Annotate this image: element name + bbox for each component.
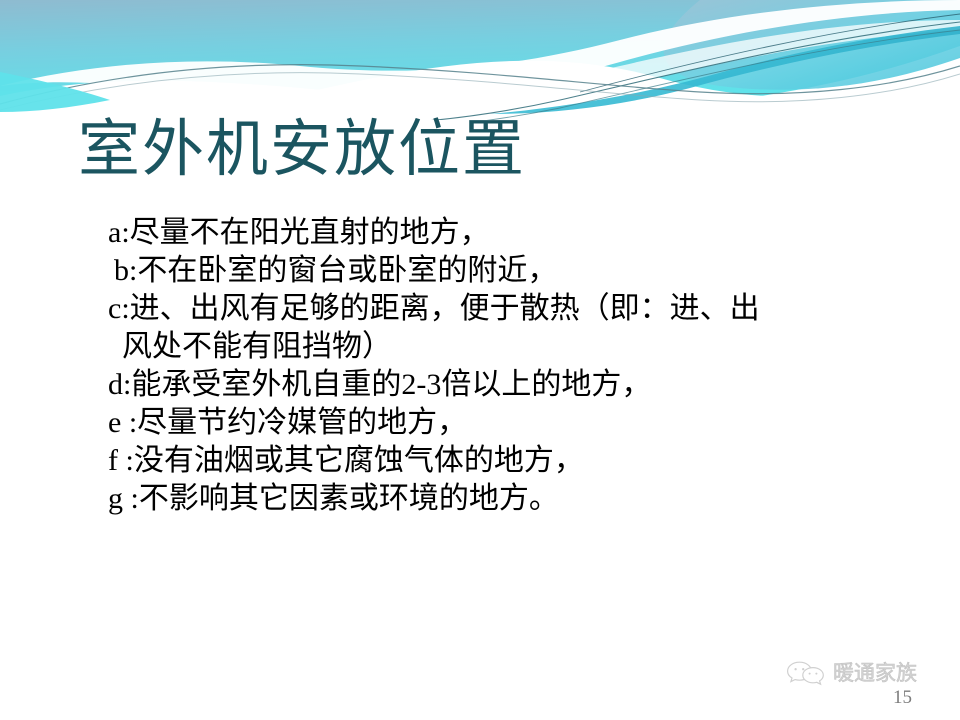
page-title: 室外机安放位置 xyxy=(0,118,960,183)
title-block: 室外机安放位置 xyxy=(0,118,960,183)
body-text-block: a:尽量不在阳光直射的地方， b:不在卧室的窗台或卧室的附近， c:进、出风有足… xyxy=(0,214,960,518)
watermark: 暖通家族 xyxy=(786,656,946,690)
body-line-e: e :尽量节约冷媒管的地方， xyxy=(108,404,960,442)
cyan-wave-banner xyxy=(0,0,960,120)
page-number: 15 xyxy=(893,688,933,707)
body-line-f: f :没有油烟或其它腐蚀气体的地方， xyxy=(108,442,960,480)
body-line-g: g :不影响其它因素或环境的地方。 xyxy=(108,480,960,518)
body-line-d: d:能承受室外机自重的2-3倍以上的地方， xyxy=(108,366,960,404)
slide-canvas: 室外机安放位置 a:尽量不在阳光直射的地方， b:不在卧室的窗台或卧室的附近， … xyxy=(0,0,960,720)
body-line-c-cont: 风处不能有阻挡物） xyxy=(108,328,960,366)
wechat-bubbles-icon xyxy=(786,659,826,687)
body-line-a: a:尽量不在阳光直射的地方， xyxy=(108,214,960,252)
body-line-c: c:进、出风有足够的距离，便于散热（即：进、出 xyxy=(108,290,960,328)
watermark-label: 暖通家族 xyxy=(833,663,917,684)
body-line-b: b:不在卧室的窗台或卧室的附近， xyxy=(108,252,960,290)
